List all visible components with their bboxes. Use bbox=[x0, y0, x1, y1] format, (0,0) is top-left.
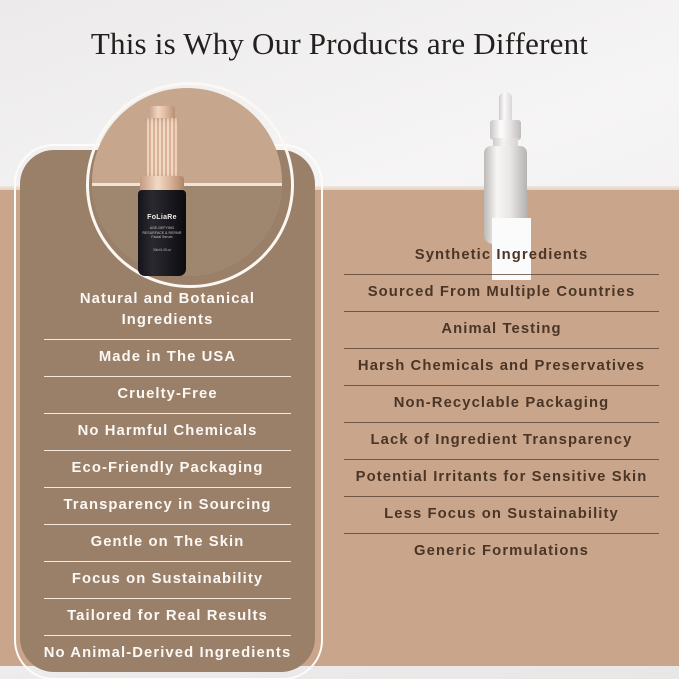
our-product-item: No Harmful Chemicals bbox=[30, 414, 305, 450]
other-product-item: Animal Testing bbox=[334, 312, 669, 348]
bottle-brand-text: FoLiaRe bbox=[138, 214, 186, 221]
other-product-item-label: Potential Irritants for Sensitive Skin bbox=[334, 460, 669, 496]
other-product-item: Lack of Ingredient Transparency bbox=[334, 423, 669, 459]
other-product-item: Generic Formulations bbox=[334, 534, 669, 570]
other-product-item: Non-Recyclable Packaging bbox=[334, 386, 669, 422]
our-product-item-label: Natural and Botanical Ingredients bbox=[30, 282, 305, 339]
our-product-item-label: Transparency in Sourcing bbox=[30, 488, 305, 524]
our-product-item-label: Made in The USA bbox=[30, 340, 305, 376]
white-bottle-body bbox=[484, 146, 527, 244]
bottle-size-text: 30ml/1.0fl.oz bbox=[138, 248, 186, 252]
other-product-item: Sourced From Multiple Countries bbox=[334, 275, 669, 311]
other-products-list: Synthetic IngredientsSourced From Multip… bbox=[334, 238, 669, 570]
our-product-item-label: Eco-Friendly Packaging bbox=[30, 451, 305, 487]
our-product-item: Made in The USA bbox=[30, 340, 305, 376]
our-product-item: Cruelty-Free bbox=[30, 377, 305, 413]
our-product-item: Tailored for Real Results bbox=[30, 599, 305, 635]
our-products-list: Natural and Botanical IngredientsMade in… bbox=[30, 282, 305, 672]
our-product-item: Natural and Botanical Ingredients bbox=[30, 282, 305, 339]
bottle-body: FoLiaRe AGE-DEFYINGRESURFACE & REPAIRFac… bbox=[138, 190, 186, 276]
dropper-teat-icon bbox=[499, 92, 512, 122]
bottle-ribbed-cap-icon bbox=[145, 118, 179, 178]
our-product-item-label: Gentle on The Skin bbox=[30, 525, 305, 561]
other-product-item: Less Focus on Sustainability bbox=[334, 497, 669, 533]
other-product-item-label: Non-Recyclable Packaging bbox=[334, 386, 669, 422]
other-product-item-label: Animal Testing bbox=[334, 312, 669, 348]
our-product-item-label: Focus on Sustainability bbox=[30, 562, 305, 598]
our-product-item: Eco-Friendly Packaging bbox=[30, 451, 305, 487]
dropper-cap-icon bbox=[490, 120, 521, 140]
white-dropper-bottle-image bbox=[478, 92, 534, 252]
our-product-item: No Animal-Derived Ingredients bbox=[30, 636, 305, 672]
our-product-item-label: No Animal-Derived Ingredients bbox=[30, 636, 305, 672]
other-product-item: Potential Irritants for Sensitive Skin bbox=[334, 460, 669, 496]
dark-serum-bottle-image: FoLiaRe AGE-DEFYINGRESURFACE & REPAIRFac… bbox=[131, 106, 193, 276]
our-product-item: Focus on Sustainability bbox=[30, 562, 305, 598]
our-product-item: Gentle on The Skin bbox=[30, 525, 305, 561]
our-product-item-label: No Harmful Chemicals bbox=[30, 414, 305, 450]
other-product-item-label: Lack of Ingredient Transparency bbox=[334, 423, 669, 459]
other-product-item-label: Less Focus on Sustainability bbox=[334, 497, 669, 533]
other-product-item: Harsh Chemicals and Preservatives bbox=[334, 349, 669, 385]
other-product-item-label: Generic Formulations bbox=[334, 534, 669, 570]
page-title: This is Why Our Products are Different bbox=[0, 26, 679, 62]
other-product-item-label: Harsh Chemicals and Preservatives bbox=[334, 349, 669, 385]
our-product-item-label: Cruelty-Free bbox=[30, 377, 305, 413]
our-product-item-label: Tailored for Real Results bbox=[30, 599, 305, 635]
other-product-item-label: Synthetic Ingredients bbox=[334, 238, 669, 274]
our-product-item: Transparency in Sourcing bbox=[30, 488, 305, 524]
infographic-canvas: This is Why Our Products are Different F… bbox=[0, 0, 679, 679]
bottle-description-text: AGE-DEFYINGRESURFACE & REPAIRFacial Seru… bbox=[138, 226, 186, 240]
other-product-item-label: Sourced From Multiple Countries bbox=[334, 275, 669, 311]
other-product-item: Synthetic Ingredients bbox=[334, 238, 669, 274]
